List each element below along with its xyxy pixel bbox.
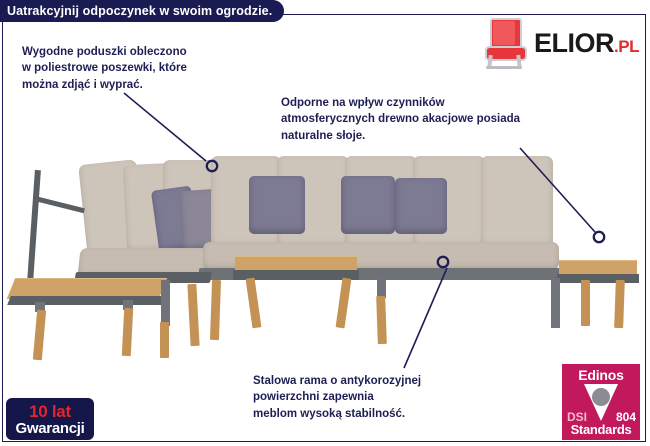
callout-marker-cushions: [207, 161, 217, 171]
guarantee-label: Gwarancji: [16, 421, 85, 436]
brand-name: ELIOR: [534, 28, 614, 58]
edinos-standards-label: Standards: [562, 422, 640, 437]
callout-text-cushions: Wygodne poduszki obleczono w poliestrowe…: [22, 44, 272, 93]
edinos-title: Edinos: [562, 367, 640, 383]
guarantee-years: 10 lat: [29, 403, 71, 420]
infographic-canvas: Uatrakcyjnij odpoczynek w swoim ogrodzie…: [0, 0, 650, 446]
guarantee-badge: 10 lat Gwarancji: [6, 398, 94, 440]
red-chair-icon: [478, 16, 530, 70]
edinos-circle-icon: [592, 388, 610, 406]
callout-text-acacia-wood: Odporne na wpływ czynników atmosferyczny…: [281, 95, 611, 144]
callout-marker-acacia-wood: [594, 232, 604, 242]
callout-text-steel-frame: Stalowa rama o antykorozyjnej powierzchn…: [253, 373, 533, 422]
brand-logo[interactable]: ELIOR.PL: [478, 14, 638, 72]
callout-marker-steel-frame: [438, 257, 448, 267]
brand-tld: .PL: [614, 37, 639, 56]
edinos-standards-badge: Edinos DSI 804 Standards: [562, 364, 640, 440]
headline-text: Uatrakcyjnij odpoczynek w swoim ogrodzie…: [7, 4, 272, 18]
brand-wordmark: ELIOR.PL: [534, 30, 639, 57]
headline-banner: Uatrakcyjnij odpoczynek w swoim ogrodzie…: [0, 0, 284, 22]
